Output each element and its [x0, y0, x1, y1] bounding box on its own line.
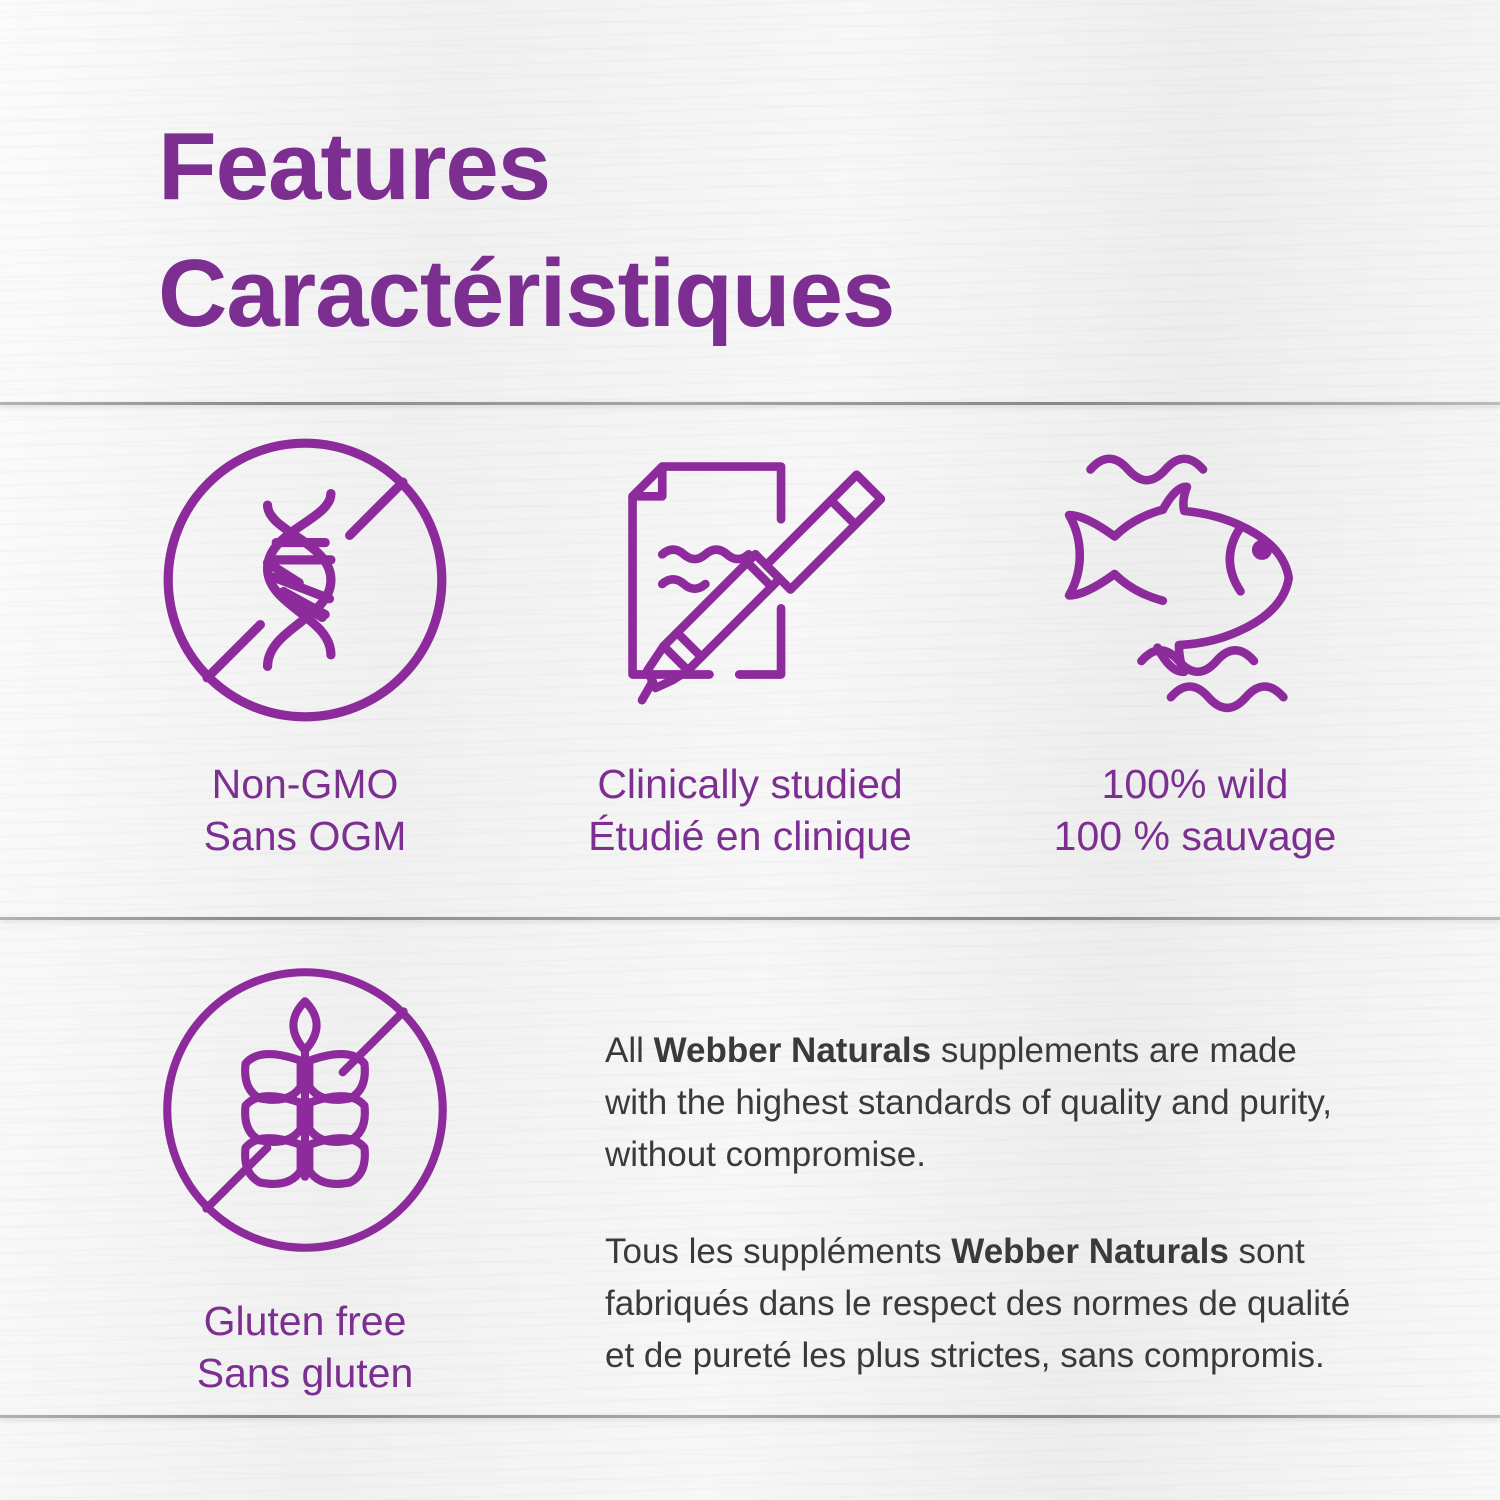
- no-gmo-dna-icon: [161, 430, 449, 730]
- feature-non-gmo-caption: Non-GMO Sans OGM: [204, 758, 407, 863]
- plank-seam-3: [0, 1415, 1500, 1418]
- feature-clinically-studied: Clinically studied Étudié en clinique: [585, 430, 915, 863]
- feature-clinically-studied-label-fr: Étudié en clinique: [588, 810, 912, 862]
- feature-infographic-page: Features Caractéristiques: [0, 0, 1500, 1500]
- plank-seam-2: [0, 917, 1500, 920]
- gluten-free-wheat-icon: [160, 955, 450, 1265]
- feature-clinically-studied-label-en: Clinically studied: [588, 758, 912, 810]
- feature-wild-label-fr: 100 % sauvage: [1054, 810, 1337, 862]
- feature-wild: 100% wild 100 % sauvage: [1030, 430, 1360, 863]
- feature-wild-label-en: 100% wild: [1054, 758, 1337, 810]
- brand-name-fr: Webber Naturals: [951, 1232, 1229, 1271]
- feature-gluten-free-label-fr: Sans gluten: [197, 1347, 414, 1399]
- feature-clinically-studied-caption: Clinically studied Étudié en clinique: [588, 758, 912, 863]
- plank-seam-1: [0, 402, 1500, 405]
- description-paragraph-en: All Webber Naturals supplements are made…: [605, 1025, 1360, 1180]
- bottom-section: Gluten free Sans gluten All Webber Natur…: [0, 955, 1500, 1400]
- brand-name-en: Webber Naturals: [654, 1031, 932, 1070]
- description-fr-before-brand: Tous les suppléments: [605, 1232, 951, 1271]
- page-title-line-fr: Caractéristiques: [158, 231, 1338, 358]
- page-title-line-en: Features: [158, 104, 1338, 231]
- wild-fish-icon: [1061, 430, 1329, 730]
- feature-non-gmo: Non-GMO Sans OGM: [140, 430, 470, 863]
- feature-gluten-free-caption: Gluten free Sans gluten: [197, 1295, 414, 1400]
- feature-non-gmo-label-en: Non-GMO: [204, 758, 407, 810]
- page-title: Features Caractéristiques: [158, 104, 1338, 357]
- feature-gluten-free-label-en: Gluten free: [197, 1295, 414, 1347]
- clipboard-pen-icon: [615, 430, 885, 730]
- feature-gluten-free: Gluten free Sans gluten: [140, 955, 470, 1400]
- feature-wild-caption: 100% wild 100 % sauvage: [1054, 758, 1337, 863]
- feature-non-gmo-label-fr: Sans OGM: [204, 810, 407, 862]
- features-row: Non-GMO Sans OGM: [0, 430, 1500, 863]
- description-en-before-brand: All: [605, 1031, 654, 1070]
- description-text-block: All Webber Naturals supplements are made…: [605, 1025, 1360, 1382]
- description-paragraph-fr: Tous les suppléments Webber Naturals son…: [605, 1226, 1360, 1381]
